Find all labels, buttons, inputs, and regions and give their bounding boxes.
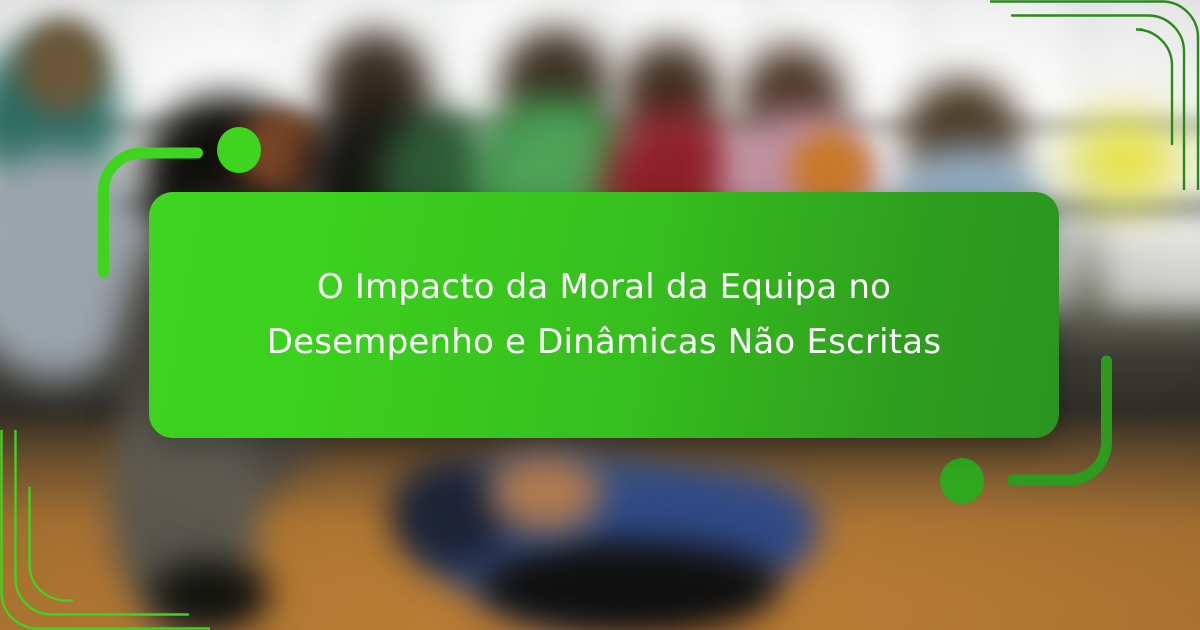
title-line-2: Desempenho e Dinâmicas Não Escritas	[267, 322, 941, 362]
title-card: O Impacto da Moral da Equipa no Desempen…	[149, 192, 1059, 438]
social-card-canvas: O Impacto da Moral da Equipa no Desempen…	[0, 0, 1200, 630]
circle-dot-icon	[940, 458, 984, 504]
title-line-1: O Impacto da Moral da Equipa no	[317, 267, 891, 307]
circle-dot-icon	[217, 127, 261, 173]
page-title: O Impacto da Moral da Equipa no Desempen…	[221, 260, 987, 370]
